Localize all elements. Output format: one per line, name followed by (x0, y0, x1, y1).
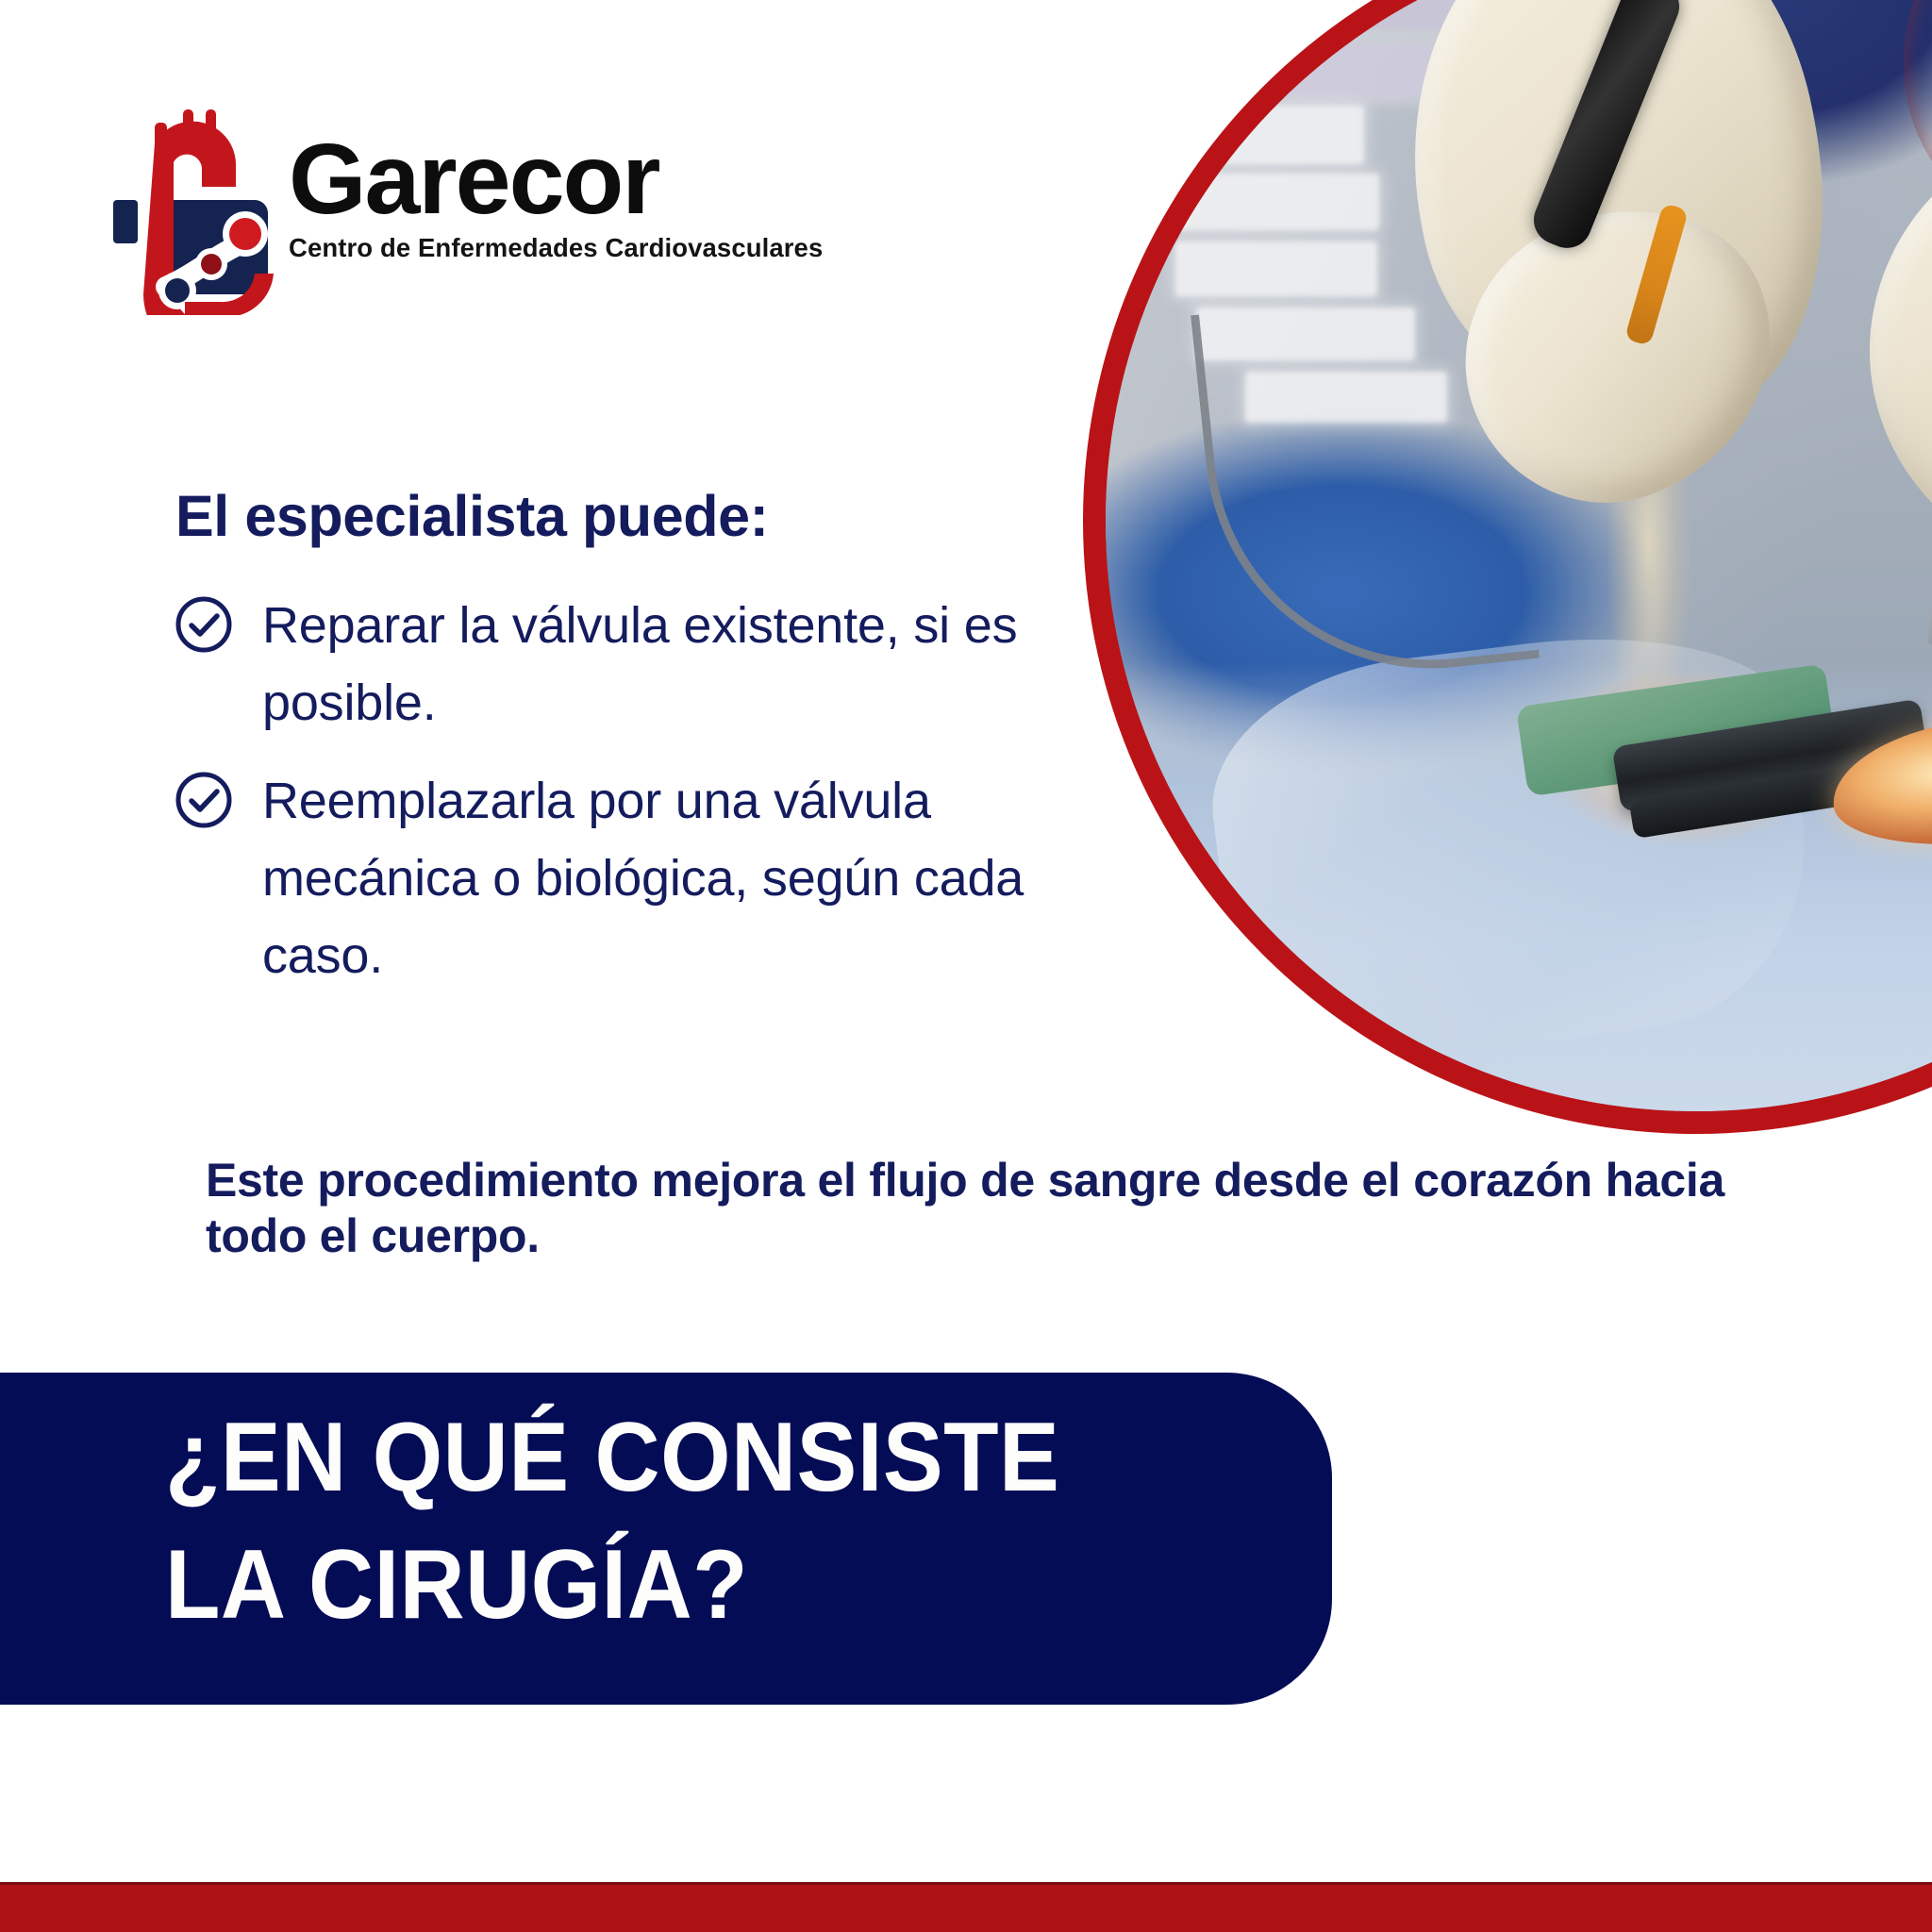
check-circle-icon (174, 770, 234, 830)
footer-accent-bar (0, 1882, 1932, 1932)
check-circle-icon (174, 594, 234, 655)
brand-tagline: Centro de Enfermedades Cardiovasculares (289, 233, 823, 263)
summary-text: Este procedimiento mejora el flujo de sa… (206, 1154, 1724, 1262)
capability-list: Reparar la válvula existente, si es posi… (174, 587, 1136, 1015)
list-item-label: Reparar la válvula existente, si es posi… (262, 587, 1136, 741)
section-headline: El especialista puede: (175, 483, 769, 549)
supply-box (1175, 241, 1377, 296)
supply-box (1168, 106, 1364, 164)
brand-lockup-text: Garecor Centro de Enfermedades Cardiovas… (289, 92, 823, 263)
banner-title: ¿EN QUÉ CONSISTE LA CIRUGÍA? (165, 1394, 1224, 1649)
list-item: Reparar la válvula existente, si es posi… (174, 587, 1136, 741)
banner-title-line-2: LA CIRUGÍA? (165, 1522, 1224, 1649)
brand-logo[interactable]: Garecor Centro de Enfermedades Cardiovas… (113, 92, 823, 315)
list-item: Reemplazarla por una válvula mecánica o … (174, 762, 1136, 994)
banner-title-line-1: ¿EN QUÉ CONSISTE (165, 1394, 1224, 1522)
brand-name: Garecor (289, 132, 823, 227)
summary-paragraph: Este procedimiento mejora el flujo de sa… (206, 1153, 1724, 1264)
supply-box (1157, 174, 1379, 230)
poster-canvas: Garecor Centro de Enfermedades Cardiovas… (0, 0, 1932, 1932)
list-item-label: Reemplazarla por una válvula mecánica o … (262, 762, 1136, 994)
surgery-photo-ring (1083, 0, 1932, 1134)
surgery-photo (1106, 0, 1932, 1111)
heart-aorta-icon (113, 102, 275, 315)
